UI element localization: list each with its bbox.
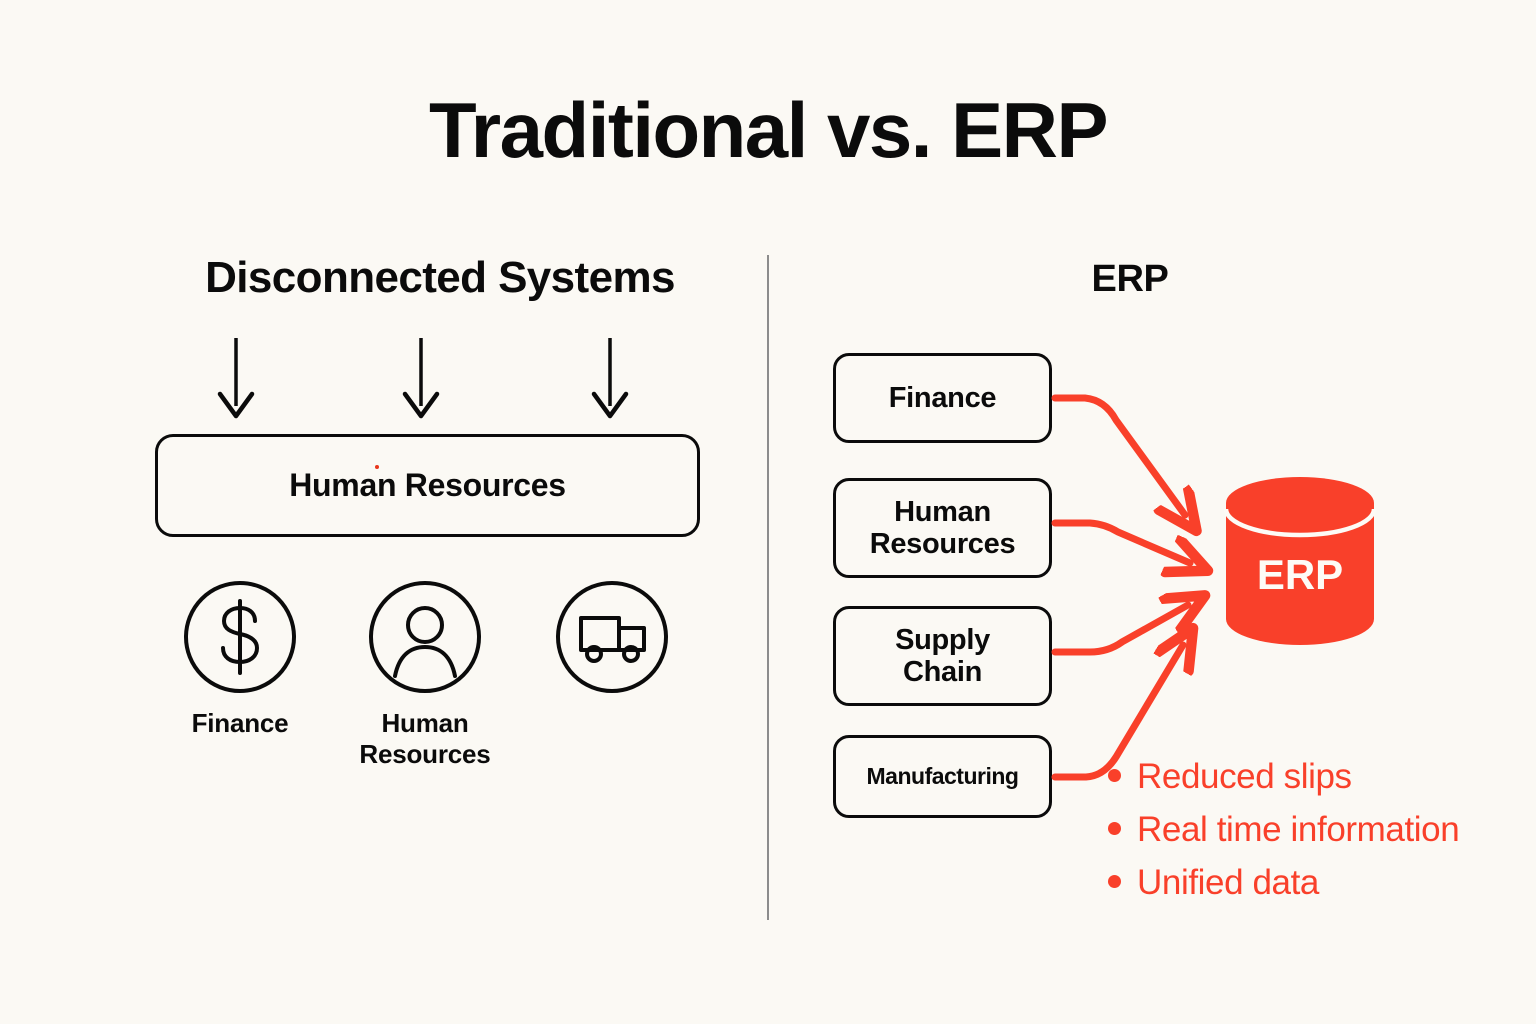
icon-item-human-resources[interactable]: Human Resources	[335, 580, 515, 770]
arrow-hr-to-erp	[1055, 523, 1190, 563]
disconnected-hr-box[interactable]: Human Resources	[155, 434, 700, 537]
diagram-canvas: Traditional vs. ERP Disconnected Systems…	[0, 0, 1536, 1024]
disconnected-hr-box-label: Human Resources	[289, 467, 566, 504]
icon-caption-human-resources: Human Resources	[335, 708, 515, 770]
module-box-manufacturing[interactable]: Manufacturing	[833, 735, 1052, 818]
benefit-item: Reduced slips	[1108, 756, 1528, 798]
bullet-dot-icon	[1108, 822, 1121, 835]
bullet-dot-icon	[1108, 875, 1121, 888]
module-box-finance[interactable]: Finance	[833, 353, 1052, 443]
module-box-human-resources[interactable]: Human Resources	[833, 478, 1052, 578]
benefits-list: Reduced slips Real time information Unif…	[1108, 756, 1528, 915]
module-box-supply-chain-label: Supply Chain	[889, 624, 996, 689]
module-box-human-resources-label: Human Resources	[864, 496, 1022, 561]
bullet-dot-icon	[1108, 769, 1121, 782]
person-circle-icon	[368, 580, 482, 694]
red-speck-artifact	[375, 465, 379, 469]
benefit-text: Reduced slips	[1137, 756, 1352, 798]
benefit-item: Real time information	[1108, 809, 1528, 851]
arrow-supply-chain-to-erp	[1055, 605, 1188, 652]
erp-database-label: ERP	[1222, 551, 1378, 599]
benefit-item: Unified data	[1108, 862, 1528, 904]
icon-item-logistics[interactable]	[522, 580, 702, 708]
page-title: Traditional vs. ERP	[0, 86, 1536, 174]
arrow-finance-to-erp	[1055, 398, 1185, 515]
module-box-manufacturing-label: Manufacturing	[861, 764, 1025, 790]
truck-circle-icon	[555, 580, 669, 694]
vertical-divider	[767, 255, 769, 920]
icon-item-finance[interactable]: Finance	[150, 580, 330, 739]
icon-caption-finance: Finance	[150, 708, 330, 739]
left-panel-heading: Disconnected Systems	[110, 252, 770, 304]
module-box-supply-chain[interactable]: Supply Chain	[833, 606, 1052, 706]
down-arrow-3	[588, 336, 632, 420]
benefit-text: Real time information	[1137, 809, 1459, 851]
down-arrow-2	[399, 336, 443, 420]
right-panel-heading: ERP	[950, 256, 1310, 302]
module-box-finance-label: Finance	[883, 382, 1003, 414]
benefit-text: Unified data	[1137, 862, 1319, 904]
down-arrow-1	[214, 336, 258, 420]
dollar-circle-icon	[183, 580, 297, 694]
